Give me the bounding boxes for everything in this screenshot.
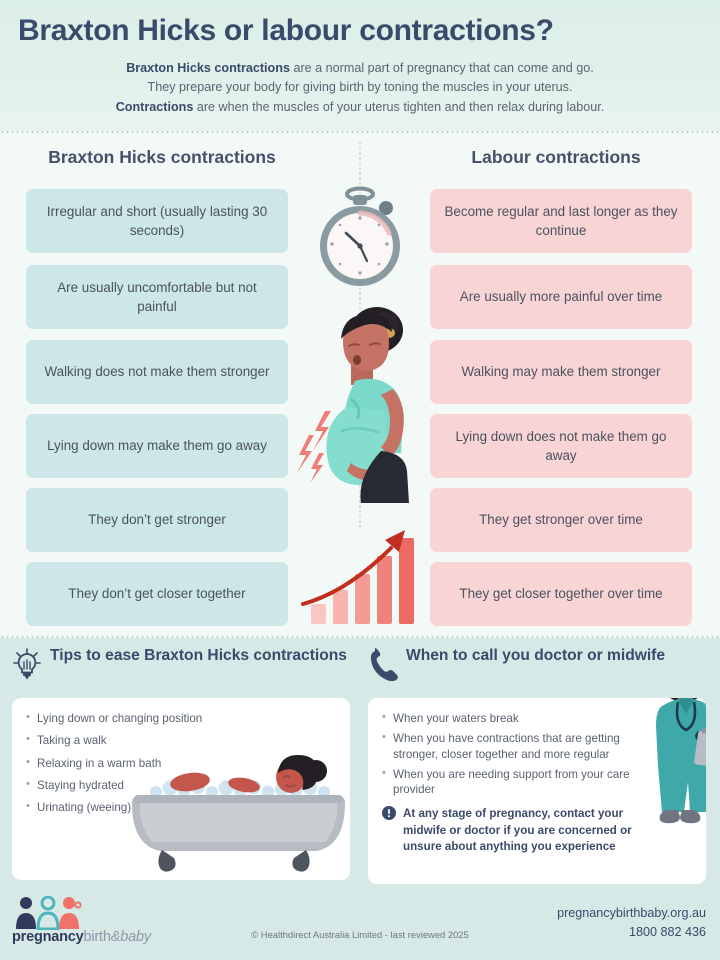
intro-line-3-bold: Contractions: [116, 100, 194, 114]
pregnant-woman-illustration: [285, 303, 435, 503]
list-item: Taking a walk: [26, 733, 336, 748]
warning-note: At any stage of pregnancy, contact your …: [382, 806, 692, 855]
tips-card-body: Lying down or changing position Taking a…: [12, 698, 350, 880]
call-card-title: When to call you doctor or midwife: [406, 647, 665, 665]
braxton-hicks-item-3: Walking does not make them stronger: [26, 340, 288, 404]
tips-card-title: Tips to ease Braxton Hicks contractions: [50, 647, 347, 665]
braxton-hicks-item-1: Irregular and short (usually lasting 30 …: [26, 189, 288, 253]
list-item: When your waters break: [382, 711, 630, 726]
website-url[interactable]: pregnancybirthbaby.org.au: [557, 904, 706, 923]
stopwatch-icon: [285, 181, 435, 301]
call-list: When your waters break When you have con…: [382, 711, 692, 797]
list-item: When you have contractions that are gett…: [382, 731, 630, 762]
header-banner: Braxton Hicks or labour contractions? Br…: [0, 0, 720, 131]
list-item: When you are needing support from your c…: [382, 767, 630, 798]
labour-item-3: Walking may make them stronger: [430, 340, 692, 404]
center-illustration-column: [285, 133, 435, 636]
labour-item-2: Are usually more painful over time: [430, 265, 692, 329]
pain-lightning-icon: [297, 411, 331, 483]
braxton-hicks-item-4: Lying down may make them go away: [26, 414, 288, 478]
rising-bar-chart-illustration: [285, 518, 435, 628]
call-card-header: When to call you doctor or midwife: [368, 647, 706, 691]
bottom-section: Tips to ease Braxton Hicks contractions: [0, 638, 720, 884]
intro-line-2: They prepare your body for giving birth …: [18, 78, 702, 98]
tips-list: Lying down or changing position Taking a…: [26, 711, 336, 815]
contact-block: pregnancybirthbaby.org.au 1800 882 436: [557, 904, 706, 942]
intro-line-1-rest: are a normal part of pregnancy that can …: [290, 61, 594, 75]
call-card-body: When your waters break When you have con…: [368, 698, 706, 884]
braxton-hicks-item-2: Are usually uncomfortable but not painfu…: [26, 265, 288, 329]
call-doctor-card: When to call you doctor or midwife: [360, 638, 720, 884]
intro-line-1-bold: Braxton Hicks contractions: [126, 61, 290, 75]
tips-card-header: Tips to ease Braxton Hicks contractions: [12, 647, 350, 691]
phone-number[interactable]: 1800 882 436: [557, 923, 706, 942]
list-item: Staying hydrated: [26, 778, 336, 793]
column-heading-braxton-hicks: Braxton Hicks contractions: [14, 147, 310, 168]
list-item: Lying down or changing position: [26, 711, 336, 726]
tips-card: Tips to ease Braxton Hicks contractions: [0, 638, 360, 884]
braxton-hicks-item-6: They don’t get closer together: [26, 562, 288, 626]
pregnancy-birth-baby-logo-icon: [12, 896, 82, 930]
labour-item-4: Lying down does not make them go away: [430, 414, 692, 478]
list-item: Urinating (weeing): [26, 800, 336, 815]
alert-circle-icon: [382, 806, 396, 855]
phone-icon: [368, 647, 398, 681]
infographic-page: Braxton Hicks or labour contractions? Br…: [0, 0, 720, 960]
labour-item-1: Become regular and last longer as they c…: [430, 189, 692, 253]
lightbulb-icon: [12, 647, 42, 681]
labour-item-6: They get closer together over time: [430, 562, 692, 626]
intro-line-3-rest: are when the muscles of your uterus tigh…: [193, 100, 604, 114]
header-intro: Braxton Hicks contractions are a normal …: [18, 59, 702, 118]
list-item: Relaxing in a warm bath: [26, 756, 336, 771]
page-title: Braxton Hicks or labour contractions?: [18, 14, 702, 48]
intro-line-1: Braxton Hicks contractions are a normal …: [18, 59, 702, 79]
intro-line-3: Contractions are when the muscles of you…: [18, 98, 702, 118]
column-heading-labour: Labour contractions: [408, 147, 704, 168]
braxton-hicks-item-5: They don’t get stronger: [26, 488, 288, 552]
labour-item-5: They get stronger over time: [430, 488, 692, 552]
warning-text: At any stage of pregnancy, contact your …: [403, 806, 644, 855]
